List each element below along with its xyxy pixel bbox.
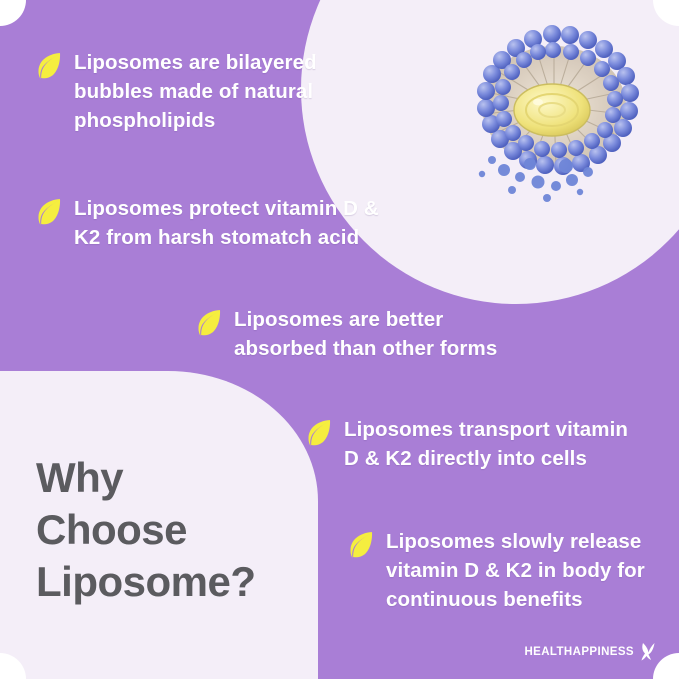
bullet-text: Liposomes protect vitamin D & K2 from ha…: [74, 194, 379, 252]
leaf-icon: [36, 197, 62, 227]
bullet-item: Liposomes are bilayered bubbles made of …: [36, 48, 366, 135]
leaf-icon: [348, 530, 374, 560]
page-title: Why Choose Liposome?: [36, 452, 306, 608]
infographic-canvas: Liposomes are bilayered bubbles made of …: [0, 0, 679, 679]
ribbon-icon: [640, 642, 657, 661]
leaf-icon: [36, 51, 62, 81]
bullet-item: Liposomes protect vitamin D & K2 from ha…: [36, 194, 396, 252]
bullet-item: Liposomes are better absorbed than other…: [196, 305, 536, 363]
leaf-icon: [306, 418, 332, 448]
leaf-icon: [196, 308, 222, 338]
bullet-item: Liposomes transport vitamin D & K2 direc…: [306, 415, 656, 473]
brand-logo: HEALTHAPPINESS: [524, 642, 657, 661]
brand-name: HEALTHAPPINESS: [524, 646, 634, 658]
bullet-text: Liposomes slowly release vitamin D & K2 …: [386, 527, 645, 614]
bullet-item: Liposomes slowly release vitamin D & K2 …: [348, 527, 658, 614]
bullet-text: Liposomes are better absorbed than other…: [234, 305, 497, 363]
bullet-text: Liposomes transport vitamin D & K2 direc…: [344, 415, 628, 473]
bullet-text: Liposomes are bilayered bubbles made of …: [74, 48, 317, 135]
liposome-diagram: [452, 14, 662, 214]
